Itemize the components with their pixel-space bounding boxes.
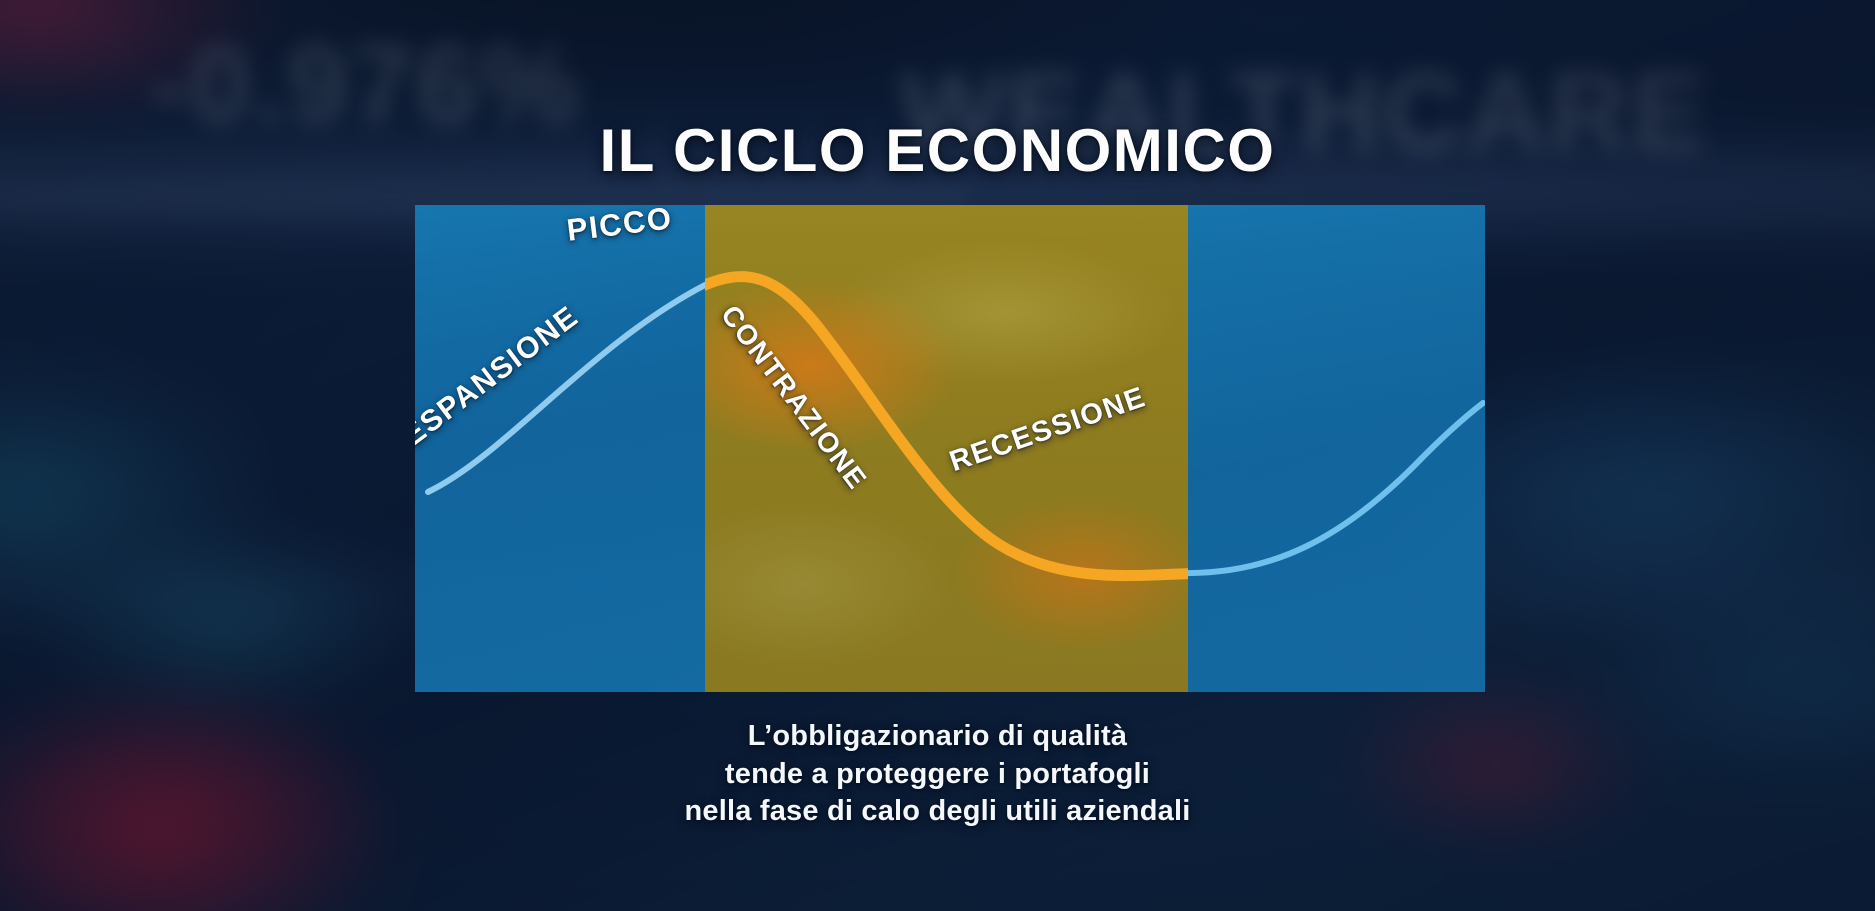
- falling-segment: [698, 277, 1205, 576]
- caption-block: L’obbligazionario di qualità tende a pro…: [0, 718, 1875, 831]
- business-cycle-chart: ESPANSIONE PICCO CONTRAZIONE RECESSIONE: [415, 205, 1485, 692]
- recovery-segment: [1181, 403, 1483, 573]
- caption-line-3: nella fase di calo degli utili aziendali: [0, 793, 1875, 831]
- page-title: IL CICLO ECONOMICO: [0, 116, 1875, 185]
- caption-line-2: tende a proteggere i portafogli: [0, 756, 1875, 794]
- slide-canvas: -0.976% WEALTHCARE |||||||||||||||||||||…: [0, 0, 1875, 911]
- caption-line-1: L’obbligazionario di qualità: [0, 718, 1875, 756]
